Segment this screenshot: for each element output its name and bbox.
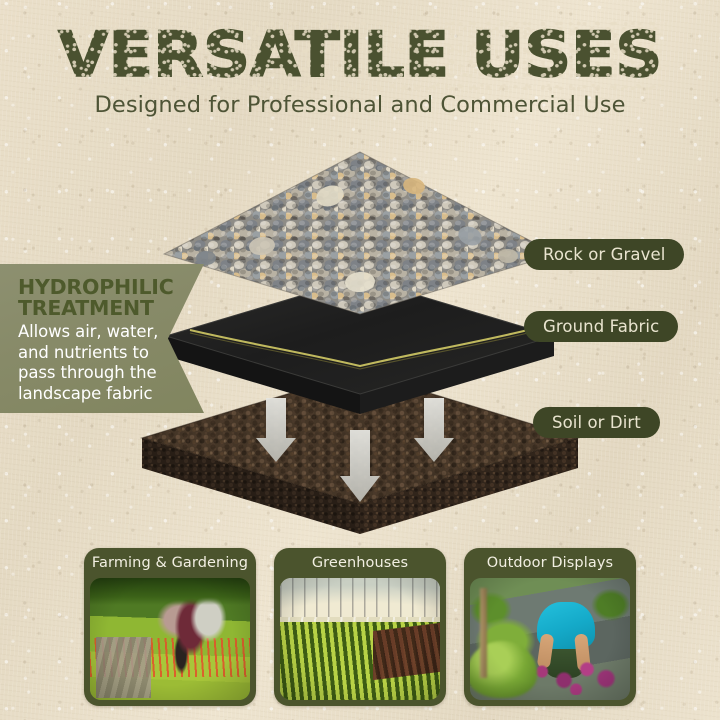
use-case-cards: Farming & Gardening Greenhouses Outdoor … (0, 548, 720, 718)
infographic-poster: VERSATILE USES Designed for Professional… (0, 0, 720, 720)
wooden-post (480, 588, 487, 678)
card-photo-outdoor (470, 578, 630, 700)
layer-label-soil-or-dirt: Soil or Dirt (533, 407, 660, 438)
layer-label-text: Soil or Dirt (552, 413, 641, 432)
use-case-card-farming[interactable]: Farming & Gardening (84, 548, 256, 706)
card-photo-farming (90, 578, 250, 700)
callout-title: HYDROPHILIC TREATMENT (18, 277, 186, 319)
card-label: Outdoor Displays (464, 548, 636, 578)
use-case-card-outdoor-displays[interactable]: Outdoor Displays (464, 548, 636, 706)
use-case-card-greenhouses[interactable]: Greenhouses (274, 548, 446, 706)
layer-label-ground-fabric: Ground Fabric (524, 311, 678, 342)
display-flowers (524, 656, 623, 695)
callout-body: Allows air, water, and nutrients to pass… (18, 322, 186, 404)
card-label: Greenhouses (274, 548, 446, 578)
layer-label-text: Rock or Gravel (543, 245, 665, 264)
greenhouse-red-lettuce-bed (373, 623, 440, 680)
layer-label-rock-or-gravel: Rock or Gravel (524, 239, 684, 270)
card-label: Farming & Gardening (84, 548, 256, 578)
card-photo-greenhouse (280, 578, 440, 700)
layer-label-text: Ground Fabric (543, 317, 659, 336)
layer-rock-gravel (164, 152, 556, 314)
